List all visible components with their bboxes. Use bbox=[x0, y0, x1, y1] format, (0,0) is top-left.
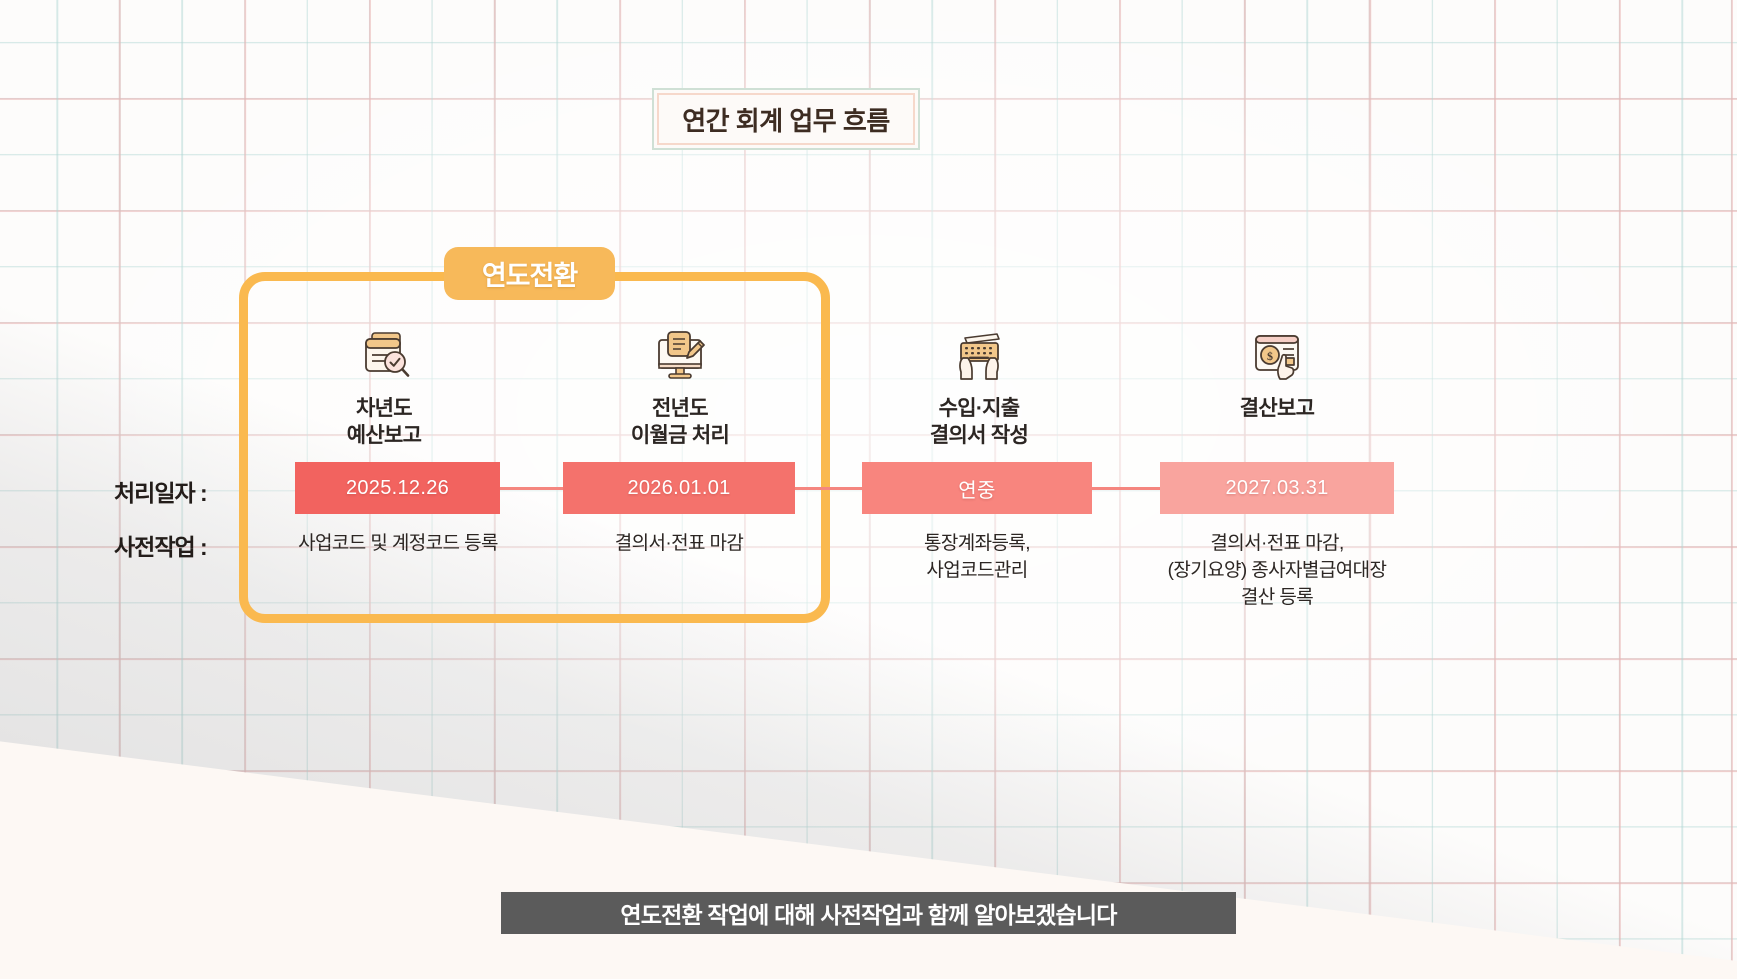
step-4[interactable]: $ 결산보고 bbox=[1203, 330, 1351, 423]
subtitle-caption-bar: 연도전환 작업에 대해 사전작업과 함께 알아보겠습니다 bbox=[501, 892, 1236, 934]
year-transition-badge: 연도전환 bbox=[444, 247, 615, 300]
document-search-icon bbox=[356, 330, 412, 382]
connector-3-4 bbox=[1092, 487, 1160, 490]
payment-card-coin-click-icon: $ bbox=[1249, 330, 1305, 382]
step-2[interactable]: 전년도 이월금 처리 bbox=[606, 330, 754, 450]
step-2-date: 2026.01.01 bbox=[627, 477, 730, 500]
step-4-date: 2027.03.31 bbox=[1225, 477, 1328, 500]
step-1[interactable]: 차년도 예산보고 bbox=[310, 330, 458, 450]
connector-2-3 bbox=[795, 487, 863, 490]
step-1-date: 2025.12.26 bbox=[346, 477, 449, 500]
page-title-frame: 연간 회계 업무 흐름 bbox=[652, 88, 920, 150]
step-2-label: 전년도 이월금 처리 bbox=[631, 396, 729, 450]
step-3-date-bar[interactable]: 연중 bbox=[862, 462, 1092, 514]
step-2-date-bar[interactable]: 2026.01.01 bbox=[563, 462, 795, 514]
svg-text:$: $ bbox=[1267, 349, 1273, 363]
step-1-date-bar[interactable]: 2025.12.26 bbox=[295, 462, 500, 514]
page-title: 연간 회계 업무 흐름 bbox=[682, 101, 890, 138]
connector-1-2 bbox=[500, 487, 565, 490]
step-4-date-bar[interactable]: 2027.03.31 bbox=[1160, 462, 1394, 514]
keyboard-typing-hands-icon bbox=[951, 330, 1007, 382]
step-1-prep-work: 사업코드 및 계정코드 등록 bbox=[268, 531, 528, 558]
monitor-document-pencil-icon bbox=[652, 330, 708, 382]
page-title-inner-frame: 연간 회계 업무 흐름 bbox=[657, 93, 915, 145]
step-4-prep-work: 결의서·전표 마감, (장기요양) 종사자별급여대장 결산 등록 bbox=[1127, 531, 1427, 612]
subtitle-caption-text: 연도전환 작업에 대해 사전작업과 함께 알아보겠습니다 bbox=[620, 896, 1116, 930]
step-3-date: 연중 bbox=[958, 474, 995, 503]
step-4-label: 결산보고 bbox=[1240, 396, 1314, 423]
step-1-label: 차년도 예산보고 bbox=[347, 396, 421, 450]
step-2-prep-work: 결의서·전표 마감 bbox=[559, 531, 799, 558]
step-3-label: 수입·지출 결의서 작성 bbox=[930, 396, 1028, 450]
step-3[interactable]: 수입·지출 결의서 작성 bbox=[905, 330, 1053, 450]
step-3-prep-work: 통장계좌등록, 사업코드관리 bbox=[859, 531, 1095, 585]
year-transition-badge-label: 연도전환 bbox=[482, 254, 577, 293]
